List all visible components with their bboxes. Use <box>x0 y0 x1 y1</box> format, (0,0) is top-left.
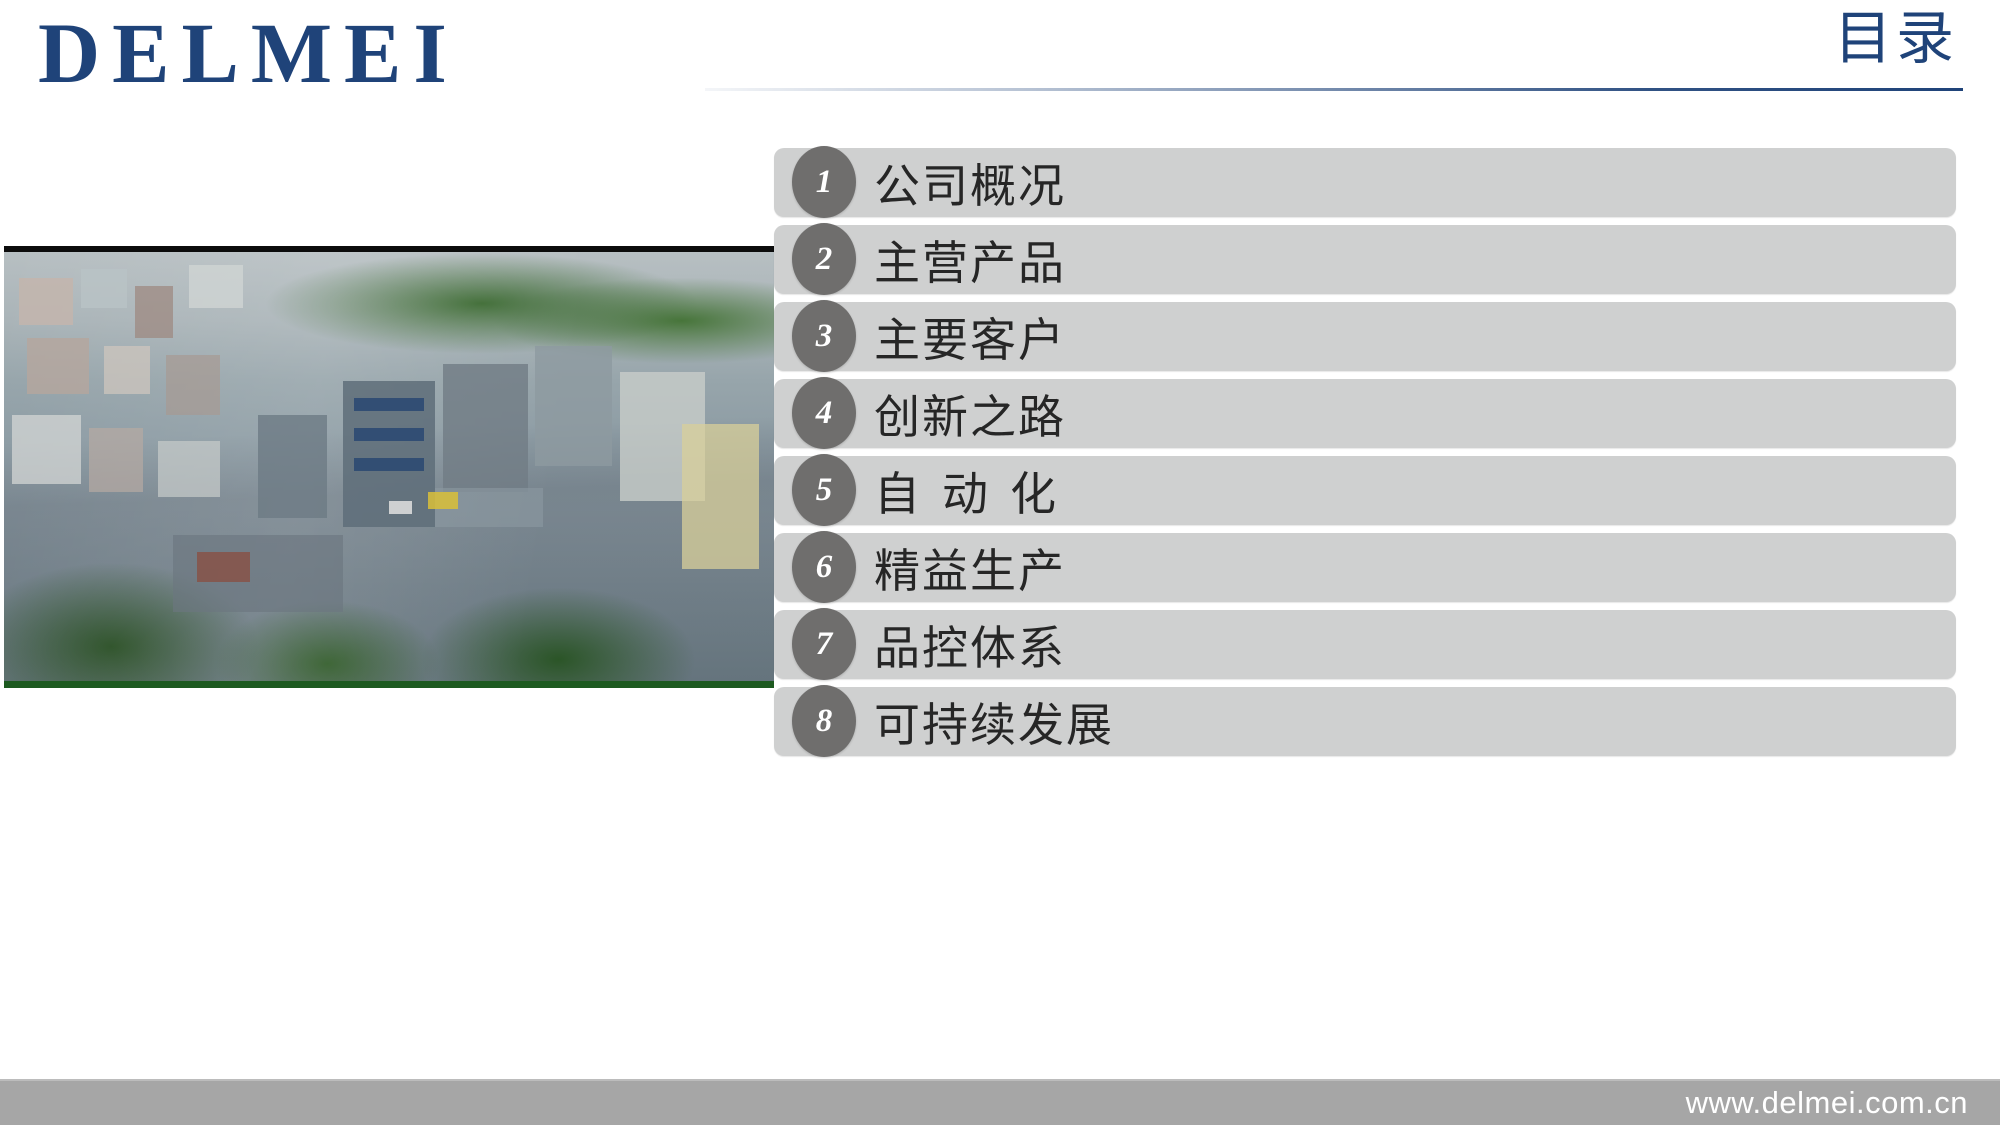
toc-item-6[interactable]: 6 精益生产 <box>774 533 1956 602</box>
toc-item-label: 精益生产 <box>874 533 1066 602</box>
toc-item-5[interactable]: 5 自动化 <box>774 456 1956 525</box>
footer-bar: www.delmei.com.cn <box>0 1079 2000 1125</box>
toc-item-7[interactable]: 7 品控体系 <box>774 610 1956 679</box>
toc-item-label: 可持续发展 <box>874 687 1114 756</box>
toc-number-badge: 8 <box>792 685 856 757</box>
toc-number-badge: 5 <box>792 454 856 526</box>
aerial-photo-detail <box>4 252 774 681</box>
toc-item-label: 品控体系 <box>874 610 1066 679</box>
toc-item-label: 主要客户 <box>874 302 1066 371</box>
header-divider <box>705 88 1963 91</box>
page-title: 目录 <box>1834 4 1958 74</box>
table-of-contents: 1 公司概况 2 主营产品 3 主要客户 4 创新之路 5 自动化 6 精益生产… <box>774 148 1956 764</box>
toc-item-label: 主营产品 <box>874 225 1066 294</box>
toc-item-label: 自动化 <box>874 456 1078 525</box>
aerial-photo <box>4 246 774 688</box>
toc-item-label: 创新之路 <box>874 379 1066 448</box>
toc-item-label: 公司概况 <box>874 148 1066 217</box>
toc-item-4[interactable]: 4 创新之路 <box>774 379 1956 448</box>
toc-number-badge: 6 <box>792 531 856 603</box>
company-logo: DELMEI <box>38 8 459 98</box>
toc-number-badge: 1 <box>792 146 856 218</box>
slide-root: DELMEI 目录 <box>0 0 2000 1125</box>
toc-item-3[interactable]: 3 主要客户 <box>774 302 1956 371</box>
toc-number-badge: 2 <box>792 223 856 295</box>
toc-number-badge: 3 <box>792 300 856 372</box>
toc-item-2[interactable]: 2 主营产品 <box>774 225 1956 294</box>
toc-item-1[interactable]: 1 公司概况 <box>774 148 1956 217</box>
toc-item-8[interactable]: 8 可持续发展 <box>774 687 1956 756</box>
website-url[interactable]: www.delmei.com.cn <box>1686 1081 1968 1125</box>
toc-number-badge: 4 <box>792 377 856 449</box>
toc-number-badge: 7 <box>792 608 856 680</box>
